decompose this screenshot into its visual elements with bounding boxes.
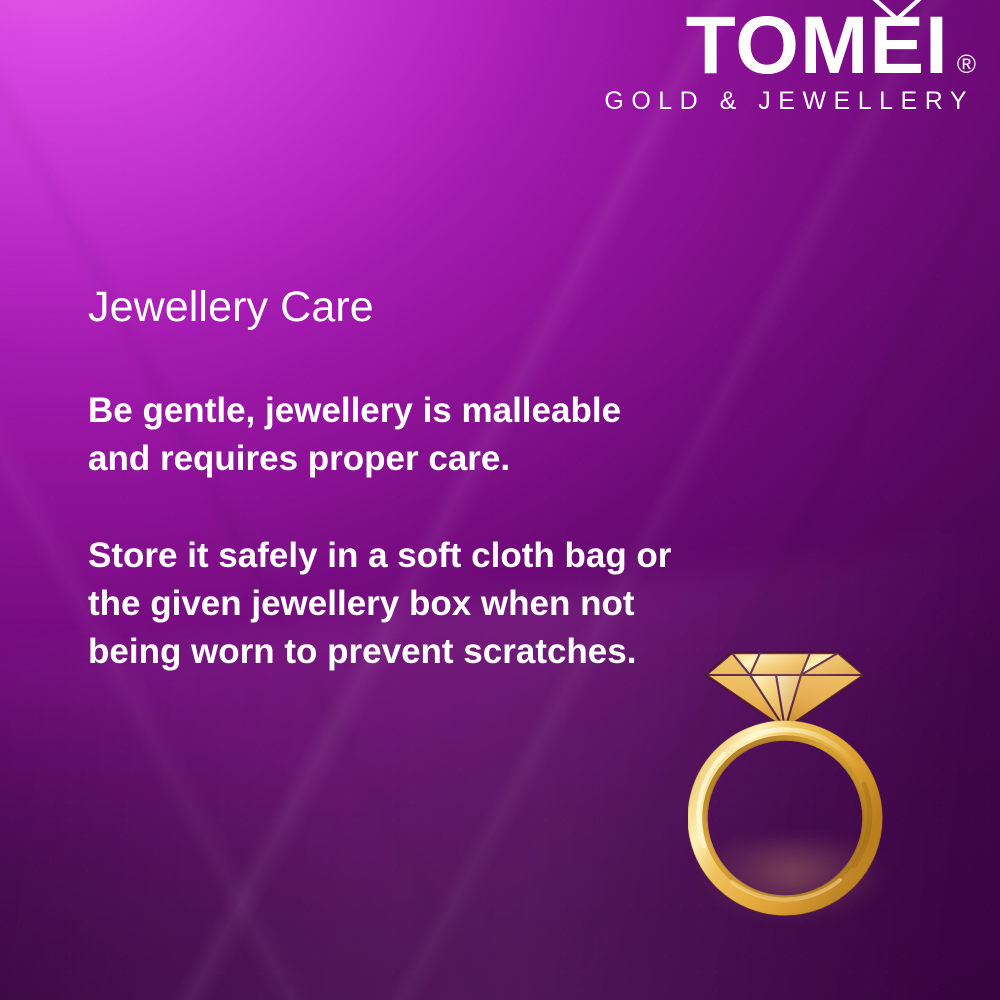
care-paragraph-2: Store it safely in a soft cloth bag or t… xyxy=(88,532,688,677)
logo-tagline: GOLD & JEWELLERY xyxy=(604,87,976,116)
tomei-logo[interactable]: TOMEI ® GOLD & JEWELLERY xyxy=(604,8,976,116)
faceted-diamond-gem-icon xyxy=(706,653,864,729)
gold-ring-band-icon xyxy=(688,721,883,916)
gold-diamond-ring-illustration xyxy=(688,636,898,926)
care-paragraph-1: Be gentle, jewellery is malleable and re… xyxy=(88,387,688,484)
page-title: Jewellery Care xyxy=(88,283,688,331)
registered-trademark-icon: ® xyxy=(957,51,976,77)
jewellery-care-poster: TOMEI ® GOLD & JEWELLERY Jewellery Care … xyxy=(0,0,1000,1000)
logo-wordmark-text: TOMEI xyxy=(686,8,949,83)
copy-block: Jewellery Care Be gentle, jewellery is m… xyxy=(88,283,688,677)
logo-wordmark-row: TOMEI ® xyxy=(604,8,976,83)
ring-svg xyxy=(688,636,898,926)
